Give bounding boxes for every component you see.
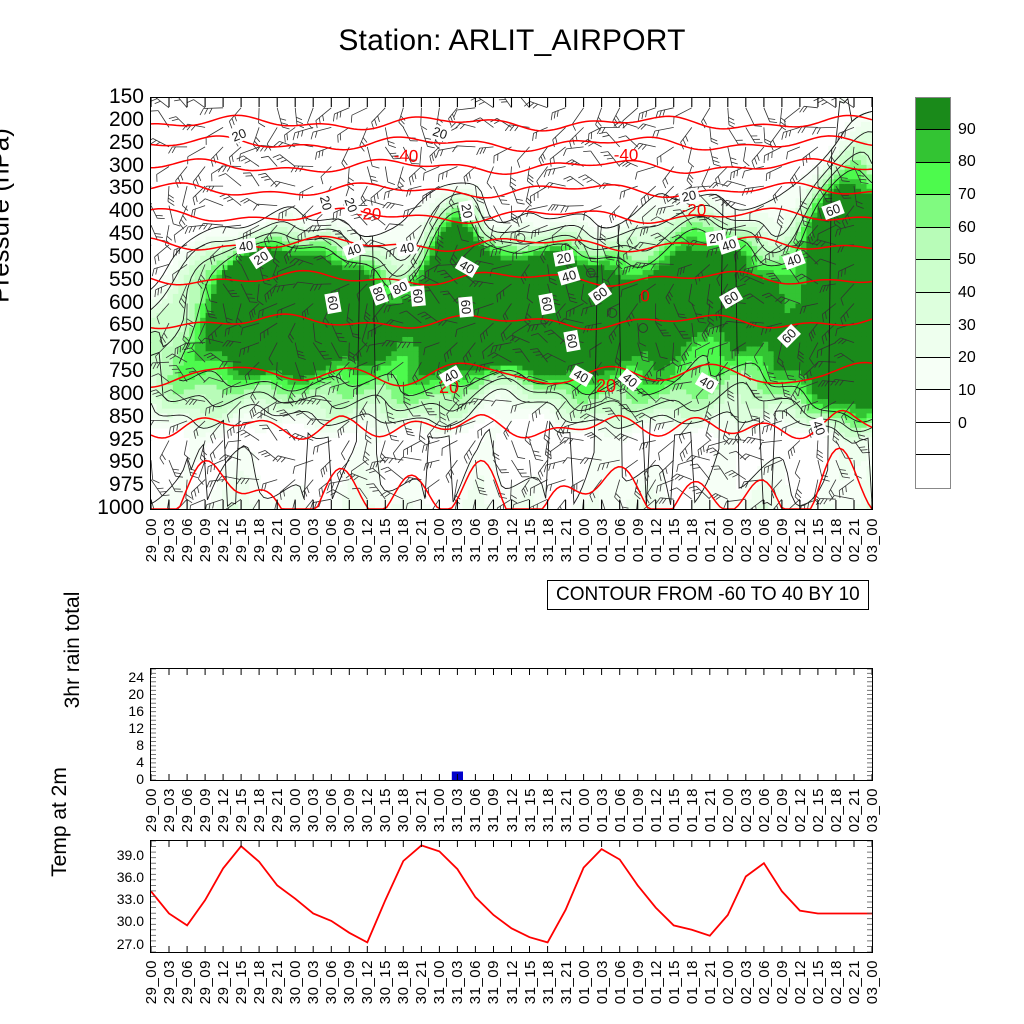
rain-tick-label: 8 <box>100 737 144 753</box>
time-tick-label: 02_03 <box>738 518 755 562</box>
cross-section-canvas: -40-40-20-200020202020202020202020204040… <box>151 98 872 509</box>
page-title: Station: ARLIT_AIRPORT <box>0 24 1024 58</box>
time-tick-label: 31_00 <box>431 788 448 832</box>
time-tick-label: 31_12 <box>504 960 521 1004</box>
cross-section-time-ticks: 29_0029_0329_0629_0929_1229_1529_1829_21… <box>150 518 873 580</box>
pressure-axis-ticks: 1502002503003504004505005506006507007508… <box>72 97 144 510</box>
time-tick-label: 29_18 <box>251 788 268 832</box>
pressure-tick-label: 350 <box>74 176 144 200</box>
temp-canvas <box>151 841 872 952</box>
pressure-tick-label: 700 <box>74 336 144 360</box>
time-tick-label: 02_15 <box>810 788 827 832</box>
pressure-tick-label: 850 <box>74 405 144 429</box>
temp-axis-ticks: 27.030.033.036.039.0 <box>86 840 144 953</box>
colorbar-band <box>916 163 950 195</box>
pressure-tick-label: 975 <box>74 473 144 497</box>
time-tick-label: 30_03 <box>305 960 322 1004</box>
time-tick-label: 29_15 <box>233 788 250 832</box>
time-tick-label: 30_15 <box>377 960 394 1004</box>
colorbar-band <box>916 98 950 130</box>
time-tick-label: 02_15 <box>810 518 827 562</box>
time-tick-label: 03_00 <box>864 518 881 562</box>
time-tick-label: 31_03 <box>449 960 466 1004</box>
time-tick-label: 01_03 <box>594 788 611 832</box>
time-tick-label: 31_12 <box>504 518 521 562</box>
time-tick-label: 01_18 <box>684 960 701 1004</box>
time-tick-label: 31_21 <box>558 518 575 562</box>
time-tick-label: 02_00 <box>720 518 737 562</box>
time-tick-label: 31_00 <box>431 518 448 562</box>
temp-tick-label: 27.0 <box>90 936 144 952</box>
colorbar-tick-label: 90 <box>958 121 976 139</box>
temp-tick-label: 33.0 <box>90 891 144 907</box>
time-tick-label: 02_21 <box>846 960 863 1004</box>
time-tick-label: 29_21 <box>269 960 286 1004</box>
rain-axis-ticks: 04812162024 <box>96 668 144 781</box>
time-tick-label: 29_21 <box>269 788 286 832</box>
contour-note-box: CONTOUR FROM -60 TO 40 BY 10 <box>547 580 869 610</box>
time-tick-label: 30_15 <box>377 788 394 832</box>
time-tick-label: 01_18 <box>684 788 701 832</box>
time-tick-label: 30_12 <box>359 788 376 832</box>
time-tick-label: 30_18 <box>395 960 412 1004</box>
rain-canvas <box>151 669 872 780</box>
time-tick-label: 29_12 <box>215 518 232 562</box>
time-tick-label: 01_06 <box>612 788 629 832</box>
time-tick-label: 01_03 <box>594 518 611 562</box>
time-tick-label: 31_18 <box>540 788 557 832</box>
time-tick-label: 30_06 <box>323 518 340 562</box>
colorbar-band <box>916 390 950 422</box>
time-tick-label: 30_03 <box>305 788 322 832</box>
time-tick-label: 29_03 <box>161 788 178 832</box>
pressure-tick-label: 950 <box>74 450 144 474</box>
time-tick-label: 29_12 <box>215 788 232 832</box>
time-tick-label: 02_12 <box>792 788 809 832</box>
colorbar-tick-label: 70 <box>958 186 976 204</box>
time-tick-label: 02_21 <box>846 788 863 832</box>
time-tick-label: 29_03 <box>161 518 178 562</box>
time-tick-label: 30_09 <box>341 960 358 1004</box>
time-tick-label: 30_21 <box>413 518 430 562</box>
time-tick-label: 01_12 <box>648 960 665 1004</box>
time-tick-label: 30_15 <box>377 518 394 562</box>
pressure-axis-label: Pressure (hPa) <box>0 6 16 426</box>
time-tick-label: 31_09 <box>485 960 502 1004</box>
time-tick-label: 01_06 <box>612 960 629 1004</box>
time-tick-label: 29_06 <box>179 788 196 832</box>
time-tick-label: 01_09 <box>630 960 647 1004</box>
time-tick-label: 02_18 <box>828 960 845 1004</box>
time-tick-label: 29_00 <box>143 788 160 832</box>
rain-tick-label: 24 <box>100 669 144 685</box>
time-tick-label: 01_09 <box>630 518 647 562</box>
rain-axis-label: 3hr rain total <box>61 560 85 740</box>
time-tick-label: 30_00 <box>287 960 304 1004</box>
time-tick-label: 02_00 <box>720 788 737 832</box>
time-tick-label: 01_21 <box>702 788 719 832</box>
time-tick-label: 01_03 <box>594 960 611 1004</box>
time-tick-label: 01_09 <box>630 788 647 832</box>
rain-time-ticks: 29_0029_0329_0629_0929_1229_1529_1829_21… <box>150 788 873 838</box>
time-tick-label: 30_12 <box>359 518 376 562</box>
rain-plot[interactable] <box>150 668 873 781</box>
humidity-colorbar[interactable] <box>915 97 951 489</box>
time-tick-label: 01_15 <box>666 960 683 1004</box>
colorbar-tick-label: 50 <box>958 251 976 269</box>
time-tick-label: 02_00 <box>720 960 737 1004</box>
time-tick-label: 31_06 <box>467 960 484 1004</box>
time-tick-label: 01_00 <box>576 960 593 1004</box>
cross-section-plot[interactable]: -40-40-20-200020202020202020202020204040… <box>150 97 873 510</box>
time-tick-label: 01_21 <box>702 518 719 562</box>
time-tick-label: 01_15 <box>666 788 683 832</box>
temp-axis-label: Temp at 2m <box>48 732 72 912</box>
pressure-tick-label: 200 <box>74 108 144 132</box>
pressure-tick-label: 550 <box>74 268 144 292</box>
time-tick-label: 30_03 <box>305 518 322 562</box>
time-tick-label: 02_18 <box>828 788 845 832</box>
time-tick-label: 31_06 <box>467 518 484 562</box>
pressure-tick-label: 600 <box>74 291 144 315</box>
time-tick-label: 03_00 <box>864 960 881 1004</box>
time-tick-label: 02_09 <box>774 518 791 562</box>
pressure-tick-label: 500 <box>74 245 144 269</box>
time-tick-label: 30_06 <box>323 960 340 1004</box>
colorbar-tick-label: 60 <box>958 219 976 237</box>
time-tick-label: 31_09 <box>485 518 502 562</box>
time-tick-label: 30_18 <box>395 788 412 832</box>
colorbar-band <box>916 195 950 227</box>
pressure-tick-label: 925 <box>74 428 144 452</box>
time-tick-label: 29_09 <box>197 788 214 832</box>
rain-inner-ticks <box>151 669 872 780</box>
temp-inner-ticks <box>151 841 872 952</box>
time-tick-label: 29_00 <box>143 960 160 1004</box>
time-tick-label: 01_21 <box>702 960 719 1004</box>
time-tick-label: 29_21 <box>269 518 286 562</box>
time-tick-label: 29_15 <box>233 960 250 1004</box>
time-tick-label: 31_00 <box>431 960 448 1004</box>
time-tick-label: 31_09 <box>485 788 502 832</box>
time-tick-label: 29_15 <box>233 518 250 562</box>
pressure-tick-label: 800 <box>74 382 144 406</box>
pressure-tick-label: 400 <box>74 199 144 223</box>
time-tick-label: 02_12 <box>792 518 809 562</box>
time-tick-label: 02_09 <box>774 960 791 1004</box>
time-tick-label: 31_03 <box>449 518 466 562</box>
pressure-tick-label: 450 <box>74 222 144 246</box>
colorbar-tick-label: 40 <box>958 284 976 302</box>
temp-plot[interactable] <box>150 840 873 953</box>
rain-tick-label: 12 <box>100 720 144 736</box>
colorbar-band <box>916 293 950 325</box>
temp-line <box>151 845 872 942</box>
time-tick-label: 01_15 <box>666 518 683 562</box>
time-tick-label: 29_00 <box>143 518 160 562</box>
time-tick-label: 29_12 <box>215 960 232 1004</box>
time-tick-label: 02_03 <box>738 960 755 1004</box>
rain-tick-label: 20 <box>100 686 144 702</box>
time-tick-label: 31_21 <box>558 788 575 832</box>
time-tick-label: 31_06 <box>467 788 484 832</box>
time-tick-label: 01_12 <box>648 518 665 562</box>
pressure-tick-label: 250 <box>74 131 144 155</box>
colorbar-band <box>916 228 950 260</box>
time-tick-label: 02_06 <box>756 788 773 832</box>
time-tick-label: 30_09 <box>341 788 358 832</box>
temp-tick-label: 39.0 <box>90 847 144 863</box>
time-tick-label: 30_00 <box>287 518 304 562</box>
time-tick-label: 29_03 <box>161 960 178 1004</box>
time-tick-label: 02_06 <box>756 960 773 1004</box>
time-tick-label: 29_18 <box>251 518 268 562</box>
rain-tick-label: 16 <box>100 703 144 719</box>
colorbar-tick-label: 10 <box>958 382 976 400</box>
colorbar-band <box>916 260 950 292</box>
pressure-tick-label: 300 <box>74 154 144 178</box>
time-tick-label: 02_21 <box>846 518 863 562</box>
colorbar-tick-label: 80 <box>958 153 976 171</box>
temp-tick-label: 30.0 <box>90 913 144 929</box>
time-tick-label: 01_18 <box>684 518 701 562</box>
colorbar-band <box>916 325 950 357</box>
colorbar-band <box>916 423 950 455</box>
time-tick-label: 29_06 <box>179 518 196 562</box>
colorbar-band <box>916 130 950 162</box>
time-tick-label: 01_06 <box>612 518 629 562</box>
time-tick-label: 31_18 <box>540 518 557 562</box>
time-tick-label: 30_21 <box>413 788 430 832</box>
time-tick-label: 02_18 <box>828 518 845 562</box>
pressure-tick-label: 1000 <box>74 496 144 520</box>
time-tick-label: 29_06 <box>179 960 196 1004</box>
rain-tick-label: 0 <box>100 771 144 787</box>
time-tick-label: 30_00 <box>287 788 304 832</box>
time-tick-label: 01_00 <box>576 788 593 832</box>
time-tick-label: 31_03 <box>449 788 466 832</box>
time-tick-label: 02_15 <box>810 960 827 1004</box>
temp-time-ticks: 29_0029_0329_0629_0929_1229_1529_1829_21… <box>150 960 873 1010</box>
colorbar-band <box>916 358 950 390</box>
time-tick-label: 02_03 <box>738 788 755 832</box>
time-tick-label: 31_15 <box>522 518 539 562</box>
colorbar-tick-label: 30 <box>958 317 976 335</box>
time-tick-label: 29_18 <box>251 960 268 1004</box>
colorbar-tick-label: 20 <box>958 349 976 367</box>
time-tick-label: 29_09 <box>197 518 214 562</box>
time-tick-label: 01_00 <box>576 518 593 562</box>
time-tick-label: 02_12 <box>792 960 809 1004</box>
pressure-tick-label: 650 <box>74 313 144 337</box>
time-tick-label: 30_09 <box>341 518 358 562</box>
time-tick-label: 30_18 <box>395 518 412 562</box>
time-tick-label: 31_21 <box>558 960 575 1004</box>
rain-tick-label: 4 <box>100 754 144 770</box>
time-tick-label: 30_21 <box>413 960 430 1004</box>
time-tick-label: 29_09 <box>197 960 214 1004</box>
time-tick-label: 01_12 <box>648 788 665 832</box>
time-tick-label: 31_12 <box>504 788 521 832</box>
time-tick-label: 31_15 <box>522 788 539 832</box>
pressure-tick-label: 750 <box>74 359 144 383</box>
time-tick-label: 30_12 <box>359 960 376 1004</box>
time-tick-label: 31_15 <box>522 960 539 1004</box>
time-tick-label: 02_06 <box>756 518 773 562</box>
time-tick-label: 31_18 <box>540 960 557 1004</box>
time-tick-label: 30_06 <box>323 788 340 832</box>
time-tick-label: 02_09 <box>774 788 791 832</box>
colorbar-tick-label: 0 <box>958 415 967 433</box>
temp-tick-label: 36.0 <box>90 869 144 885</box>
time-tick-label: 03_00 <box>864 788 881 832</box>
colorbar-band <box>916 455 950 487</box>
pressure-tick-label: 150 <box>74 85 144 109</box>
